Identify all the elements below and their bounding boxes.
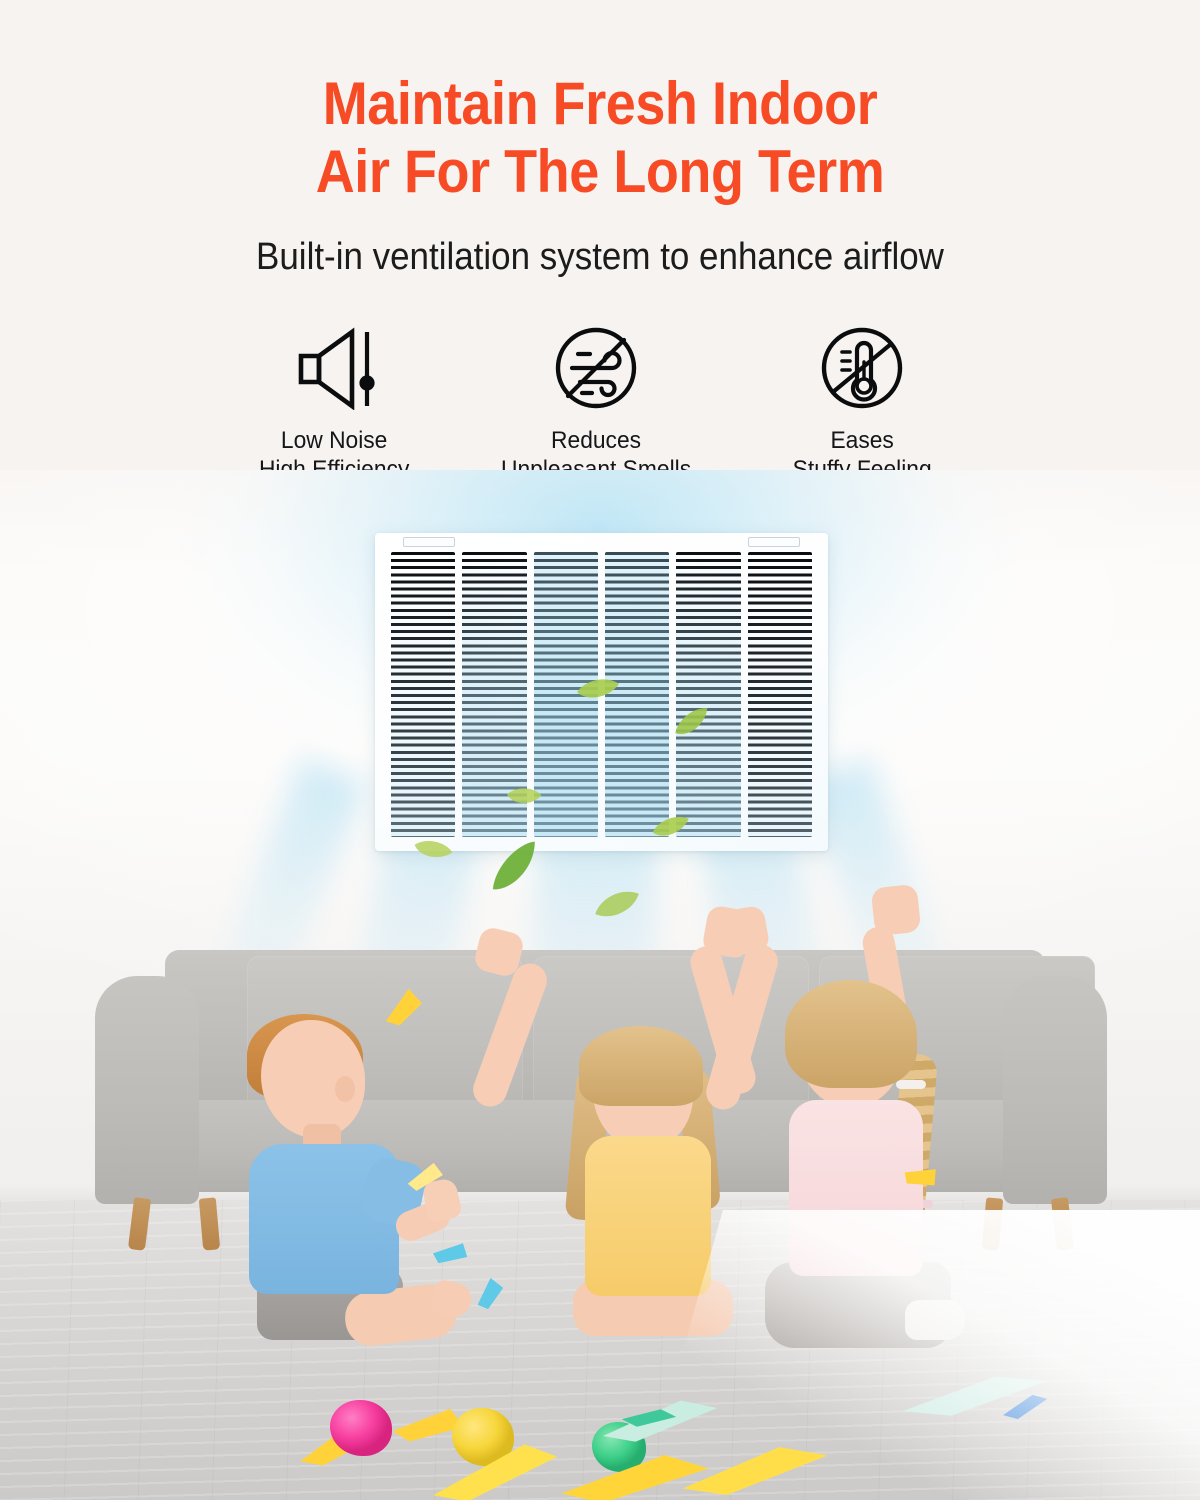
crumpled-paper-ball bbox=[330, 1400, 392, 1456]
feature-reduces-smells: Reduces Unpleasant Smells bbox=[464, 322, 728, 484]
hand bbox=[871, 884, 922, 937]
page-headline: Maintain Fresh Indoor Air For The Long T… bbox=[60, 70, 1140, 206]
hair-tie bbox=[896, 1080, 926, 1089]
vent-latch-tab bbox=[403, 537, 455, 547]
child-girl-yellow-dress bbox=[555, 960, 755, 1350]
leaf-icon bbox=[586, 878, 647, 931]
hair bbox=[579, 1026, 703, 1106]
paper-sheet bbox=[679, 1443, 831, 1496]
sofa-leg bbox=[199, 1197, 220, 1250]
hand bbox=[701, 904, 755, 959]
page-subheadline: Built-in ventilation system to enhance a… bbox=[48, 234, 1152, 280]
feature-eases-stuffy: Eases Stuffy Feeling bbox=[730, 322, 994, 484]
louver-bank bbox=[748, 552, 812, 837]
vent-latch-tab bbox=[748, 537, 800, 547]
sock bbox=[905, 1300, 965, 1340]
louver-bank bbox=[676, 552, 740, 837]
air-vent-grille bbox=[375, 533, 828, 851]
shirt bbox=[789, 1100, 923, 1276]
room-scene bbox=[0, 470, 1200, 1500]
speaker-volume-icon bbox=[288, 322, 380, 414]
paper-sheet bbox=[429, 1441, 562, 1500]
marketing-page: Maintain Fresh Indoor Air For The Long T… bbox=[0, 0, 1200, 1500]
sofa-armrest bbox=[1003, 976, 1107, 1204]
no-heat-thermometer-icon bbox=[816, 322, 908, 414]
hair bbox=[785, 980, 917, 1088]
louver-bank bbox=[462, 552, 526, 837]
louver-bank bbox=[605, 552, 669, 837]
louver-bank bbox=[534, 552, 598, 837]
dress bbox=[585, 1136, 711, 1296]
sofa-armrest bbox=[95, 976, 199, 1204]
feature-low-noise: Low Noise High Efficiency bbox=[202, 322, 466, 484]
sofa-leg bbox=[1051, 1197, 1074, 1251]
paper-piece bbox=[404, 1160, 445, 1192]
ear bbox=[335, 1076, 355, 1102]
sofa-leg bbox=[128, 1197, 151, 1251]
vent-louver-banks bbox=[391, 552, 812, 837]
no-odor-wind-icon bbox=[550, 322, 642, 414]
child-girl-pink-shirt bbox=[755, 932, 1005, 1352]
feature-list: Low Noise High Efficiency Reduces Unplea… bbox=[0, 322, 1200, 484]
louver-bank bbox=[391, 552, 455, 837]
